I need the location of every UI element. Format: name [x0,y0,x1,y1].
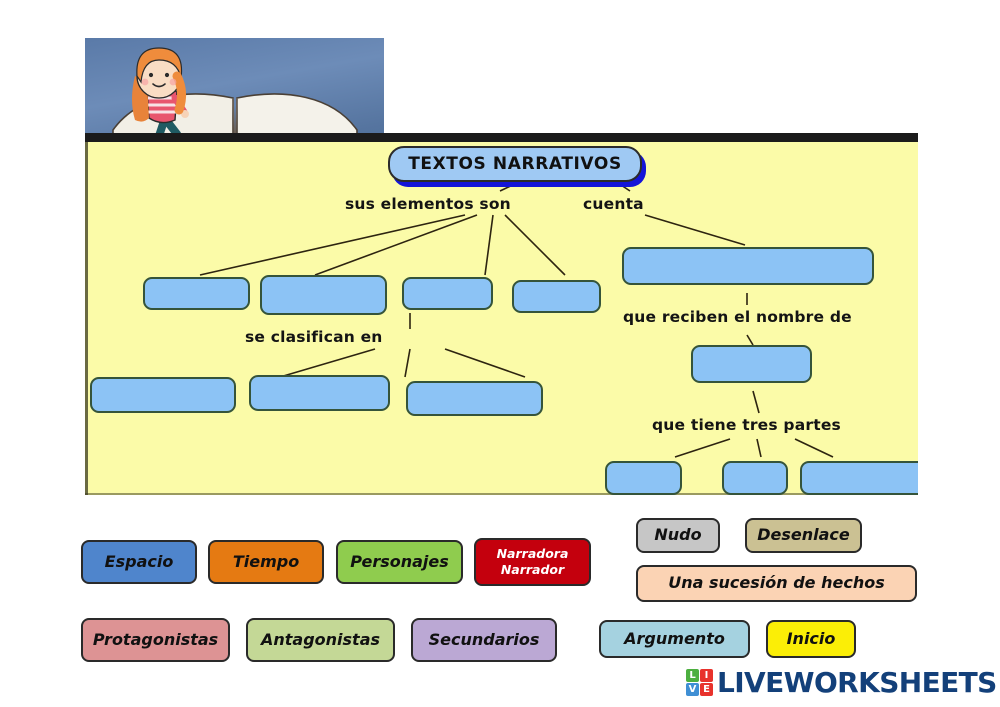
chip-secundarios[interactable]: Secundarios [411,618,557,662]
dropbox-clasificacion-1[interactable] [90,377,236,413]
chip-nudo[interactable]: Nudo [636,518,720,553]
chip-narrador-label: Narrador [501,562,564,578]
chip-desenlace-label: Desenlace [757,527,850,544]
liveworksheets-logo-icon: L I V E [686,669,713,696]
logo-cell-i: I [700,669,713,682]
dropbox-parte-2[interactable] [722,461,788,495]
dropbox-clasificacion-2[interactable] [249,375,390,411]
chip-protagonistas-label: Protagonistas [93,632,218,649]
chip-inicio[interactable]: Inicio [766,620,856,658]
dropbox-nombre-1[interactable] [691,345,812,383]
chip-antagonistas-label: Antagonistas [261,632,380,649]
dropbox-parte-1[interactable] [605,461,682,495]
concept-map-title: TEXTOS NARRATIVOS [388,146,642,182]
chip-personajes-label: Personajes [350,554,449,571]
chip-espacio[interactable]: Espacio [81,540,197,584]
dropbox-elemento-3[interactable] [402,277,493,310]
chip-tiempo-label: Tiempo [233,554,299,571]
dropbox-elemento-2[interactable] [260,275,387,315]
logo-cell-v: V [686,683,699,696]
connector-label-que-reciben-el-nombre-de: que reciben el nombre de [623,308,852,326]
concept-map-title-label: TEXTOS NARRATIVOS [408,154,622,174]
liveworksheets-logo[interactable]: L I V E LIVEWORKSHEETS [686,666,997,699]
connector-label-se-clasifican-en: se clasifican en [245,328,383,346]
connector-label-cuenta: cuenta [583,195,644,213]
chip-desenlace[interactable]: Desenlace [745,518,862,553]
connector-label-sus-elementos-son: sus elementos son [345,195,511,213]
liveworksheets-logo-text: LIVEWORKSHEETS [717,666,997,699]
chip-antagonistas[interactable]: Antagonistas [246,618,395,662]
logo-cell-l: L [686,669,699,682]
chip-secundarios-label: Secundarios [429,632,540,649]
chip-nudo-label: Nudo [654,527,701,544]
chip-una-sucesion-de-hechos[interactable]: Una sucesión de hechos [636,565,917,602]
dropbox-clasificacion-3[interactable] [406,381,543,416]
connector-label-que-tiene-tres-partes: que tiene tres partes [652,416,841,434]
chip-espacio-label: Espacio [105,554,174,571]
dropbox-elemento-1[interactable] [143,277,250,310]
chip-personajes[interactable]: Personajes [336,540,463,584]
chip-argumento[interactable]: Argumento [599,620,750,658]
logo-cell-e: E [700,683,713,696]
chip-protagonistas[interactable]: Protagonistas [81,618,230,662]
chip-tiempo[interactable]: Tiempo [208,540,324,584]
chip-argumento-label: Argumento [624,631,725,648]
chip-narradora-narrador[interactable]: Narradora Narrador [474,538,591,586]
dropbox-elemento-4[interactable] [512,280,601,313]
dropbox-cuenta-1[interactable] [622,247,874,285]
chip-narradora-label: Narradora [497,546,569,562]
chip-una-sucesion-label: Una sucesión de hechos [668,575,884,592]
chip-inicio-label: Inicio [787,631,836,648]
dropbox-parte-3[interactable] [800,461,918,495]
